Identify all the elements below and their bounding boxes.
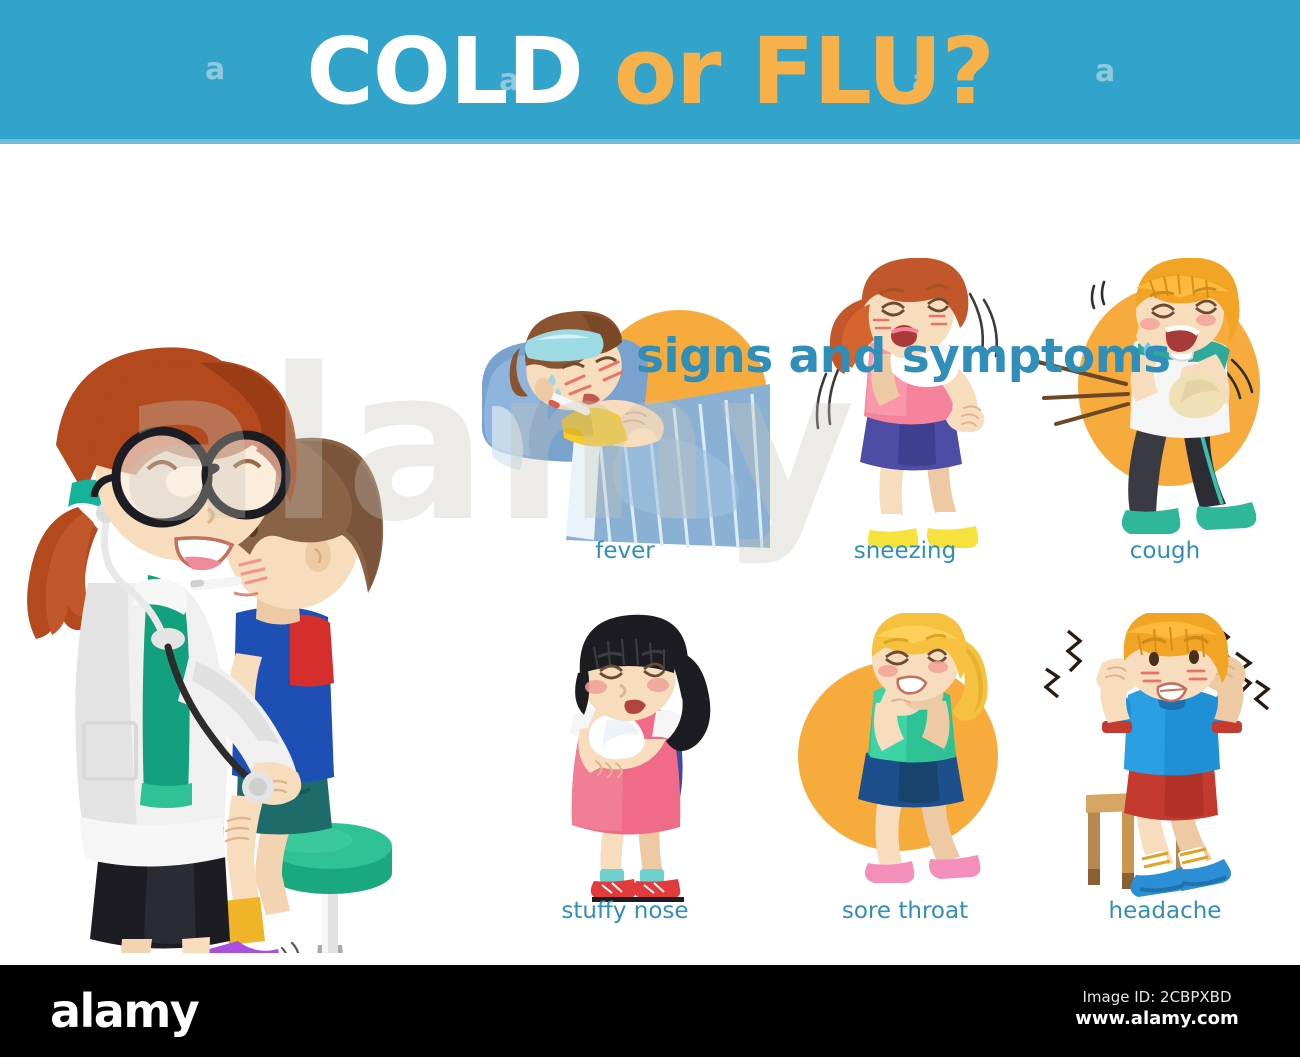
symptom-card-stuffy-nose: stuffy nose — [470, 613, 780, 943]
symptom-card-cough: cough — [1030, 258, 1300, 588]
poster-header: a a a a COLD or FLU? — [0, 0, 1300, 143]
title-cold: COLD — [306, 18, 583, 125]
symptom-card-headache: headache — [1030, 613, 1300, 943]
headache-illustration — [1030, 613, 1300, 903]
header-watermark-a-1: a — [205, 52, 225, 87]
infographic-poster: a a a a COLD or FLU? signs and symptoms — [0, 0, 1300, 1057]
alamy-url-text[interactable]: www.alamy.com — [1052, 1007, 1262, 1031]
symptom-label-cough: cough — [1030, 538, 1300, 564]
title-or: or — [583, 18, 752, 125]
footer-meta: Image ID: 2CBPXBD www.alamy.com — [1052, 987, 1262, 1031]
poster-body: signs and symptoms — [0, 143, 1300, 965]
image-id-text: Image ID: 2CBPXBD — [1052, 987, 1262, 1007]
cough-illustration — [1030, 258, 1300, 548]
doctor-examining-boy-illustration — [0, 183, 470, 953]
sneezing-illustration — [770, 258, 1040, 548]
symptom-label-sore-throat: sore throat — [770, 898, 1040, 924]
symptom-label-fever: fever — [470, 538, 780, 564]
symptom-label-stuffy-nose: stuffy nose — [470, 898, 780, 924]
header-watermark-a-4: a — [1095, 54, 1115, 89]
symptom-card-sneezing: sneezing — [770, 258, 1040, 588]
symptom-label-sneezing: sneezing — [770, 538, 1040, 564]
poster-footer: alamy Image ID: 2CBPXBD www.alamy.com — [0, 965, 1300, 1057]
page-title: COLD or FLU? — [306, 26, 994, 118]
title-flu: FLU? — [752, 18, 994, 125]
stuffy-nose-illustration — [470, 613, 780, 903]
symptom-card-sore-throat: sore throat — [770, 613, 1040, 943]
header-divider — [0, 139, 1300, 144]
motion-lines-foot — [282, 943, 299, 953]
alamy-logo: alamy — [50, 988, 198, 1034]
sore-throat-illustration — [770, 613, 1040, 903]
section-heading: signs and symptoms — [636, 329, 1171, 384]
symptom-label-headache: headache — [1030, 898, 1300, 924]
